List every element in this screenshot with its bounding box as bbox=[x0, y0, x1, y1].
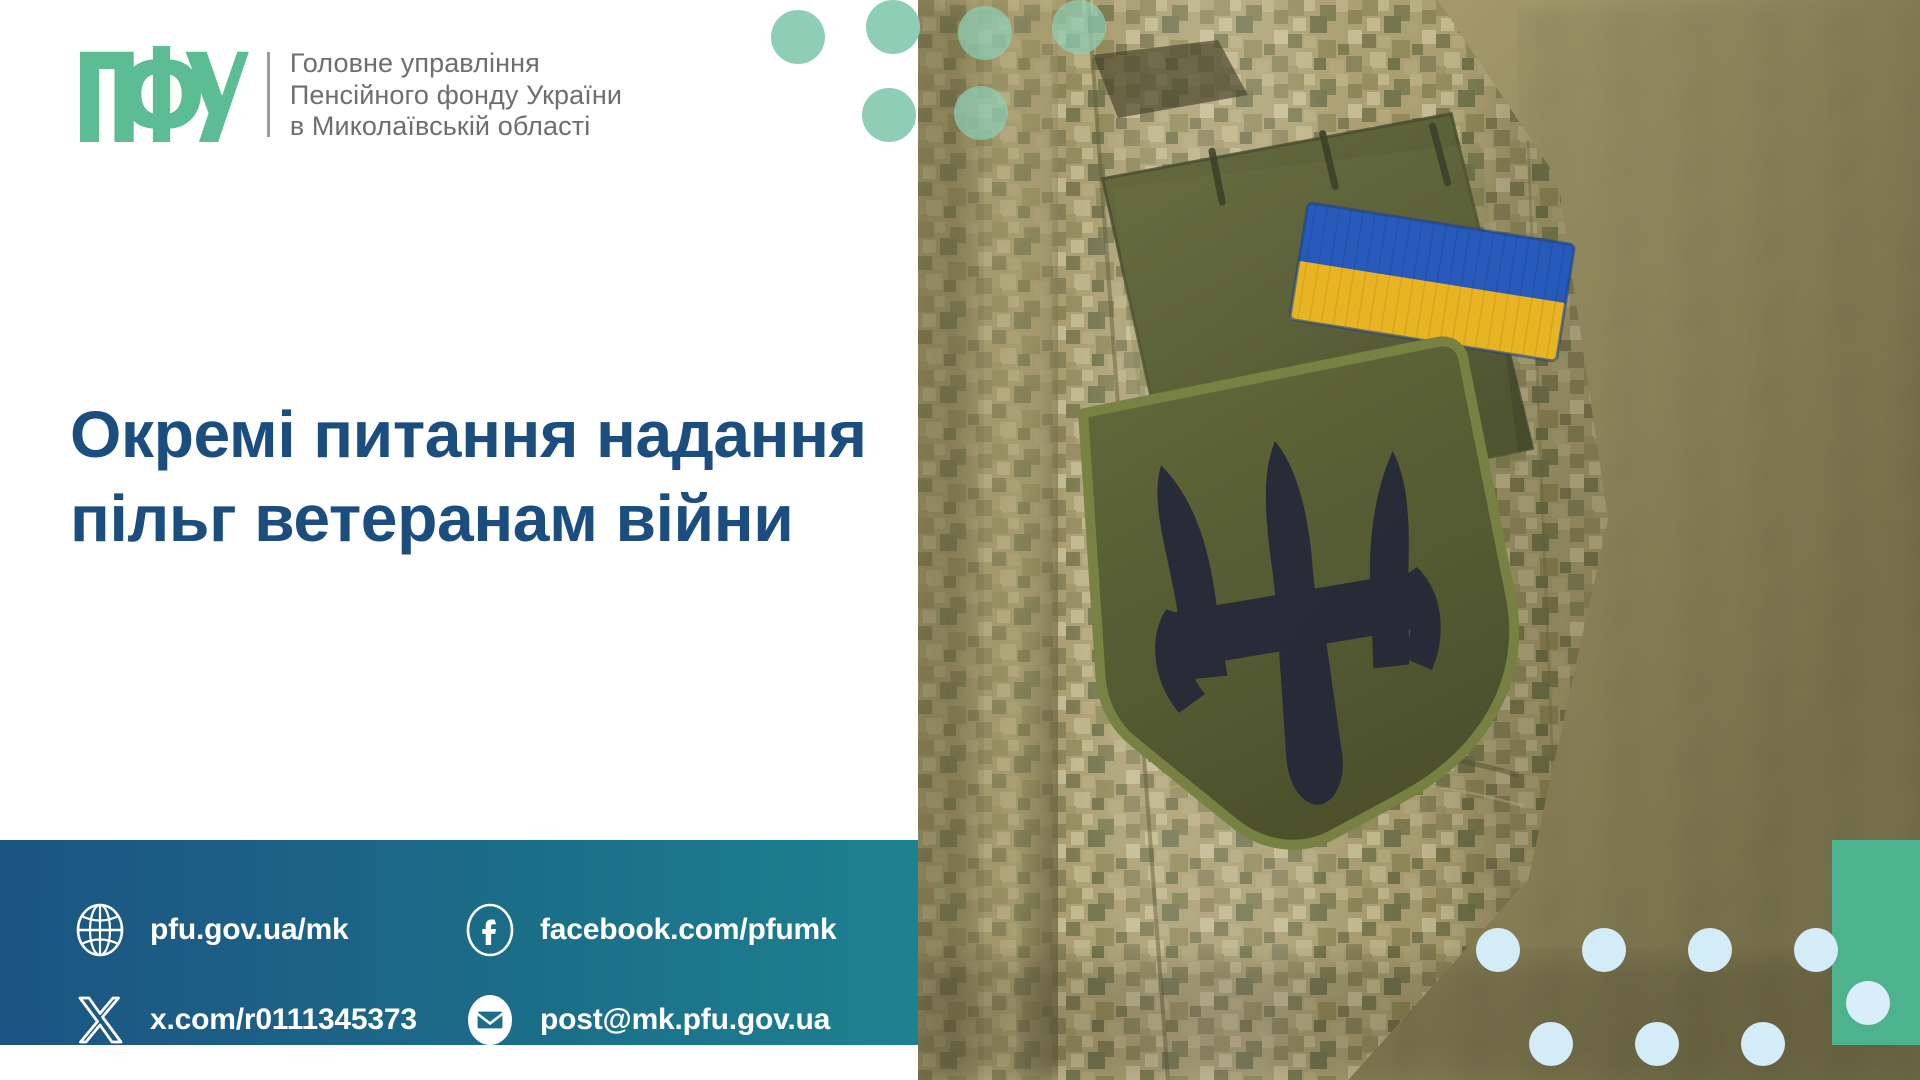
facebook-icon bbox=[462, 902, 518, 958]
logo-divider bbox=[267, 52, 270, 137]
contact-email[interactable]: post@mk.pfu.gov.ua bbox=[462, 992, 830, 1048]
banner-canvas: Головне управління Пенсійного фонду Укра… bbox=[0, 0, 1920, 1080]
contact-facebook-label: facebook.com/pfumk bbox=[540, 913, 836, 947]
contact-email-label: post@mk.pfu.gov.ua bbox=[540, 1003, 830, 1037]
x-twitter-icon bbox=[72, 992, 128, 1048]
headline-line-2: пільг ветеранам війни bbox=[70, 476, 860, 560]
contact-website[interactable]: pfu.gov.ua/mk bbox=[72, 902, 349, 958]
pfu-logo[interactable]: Головне управління Пенсійного фонду Укра… bbox=[78, 46, 622, 143]
headline-line-1: Окремі питання надання bbox=[70, 392, 860, 476]
footer-contact-bar: pfu.gov.ua/mk x.com/r0111345373 fac bbox=[0, 840, 918, 1045]
pfu-logo-mark-icon bbox=[78, 46, 249, 142]
decor-dot-blue-accent bbox=[1846, 981, 1890, 1025]
logo-org-line-3: в Миколаївській області bbox=[290, 111, 622, 143]
contact-x[interactable]: x.com/r0111345373 bbox=[72, 992, 417, 1048]
logo-org-text: Головне управління Пенсійного фонду Укра… bbox=[290, 46, 622, 143]
logo-org-line-2: Пенсійного фонду України bbox=[290, 80, 622, 112]
accent-block-right bbox=[1832, 840, 1920, 1045]
contact-x-label: x.com/r0111345373 bbox=[150, 1003, 417, 1037]
contact-grid: pfu.gov.ua/mk x.com/r0111345373 fac bbox=[0, 840, 918, 1045]
page-title: Окремі питання надання пільг ветеранам в… bbox=[70, 392, 860, 560]
contact-website-label: pfu.gov.ua/mk bbox=[150, 913, 349, 947]
globe-icon bbox=[72, 902, 128, 958]
hero-photo bbox=[918, 0, 1920, 1080]
contact-facebook[interactable]: facebook.com/pfumk bbox=[462, 902, 836, 958]
envelope-icon bbox=[462, 992, 518, 1048]
logo-org-line-1: Головне управління bbox=[290, 48, 622, 80]
